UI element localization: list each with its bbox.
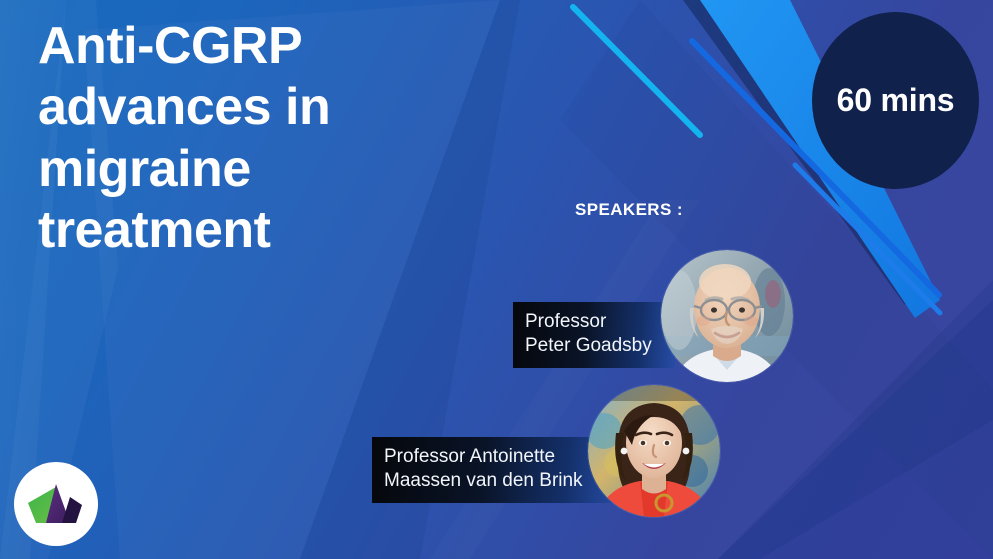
slide-title: Anti-CGRP advances in migraine treatment xyxy=(38,16,458,261)
speaker-name-plate: Professor Peter Goadsby xyxy=(513,302,675,368)
avatar xyxy=(661,250,793,382)
webinar-promo-slide: Anti-CGRP advances in migraine treatment… xyxy=(0,0,993,559)
speaker-name-plate: Professor Antoinette Maassen van den Bri… xyxy=(372,437,620,503)
crown-mountain-icon xyxy=(26,481,86,527)
speaker-entry: Professor Peter Goadsby xyxy=(513,250,793,388)
avatar xyxy=(588,385,720,517)
duration-badge-label: 60 mins xyxy=(837,82,955,119)
duration-badge: 60 mins xyxy=(812,12,979,189)
speaker-entry: Professor Antoinette Maassen van den Bri… xyxy=(372,385,720,523)
brand-logo xyxy=(14,462,98,546)
speakers-heading: SPEAKERS : xyxy=(575,200,683,220)
